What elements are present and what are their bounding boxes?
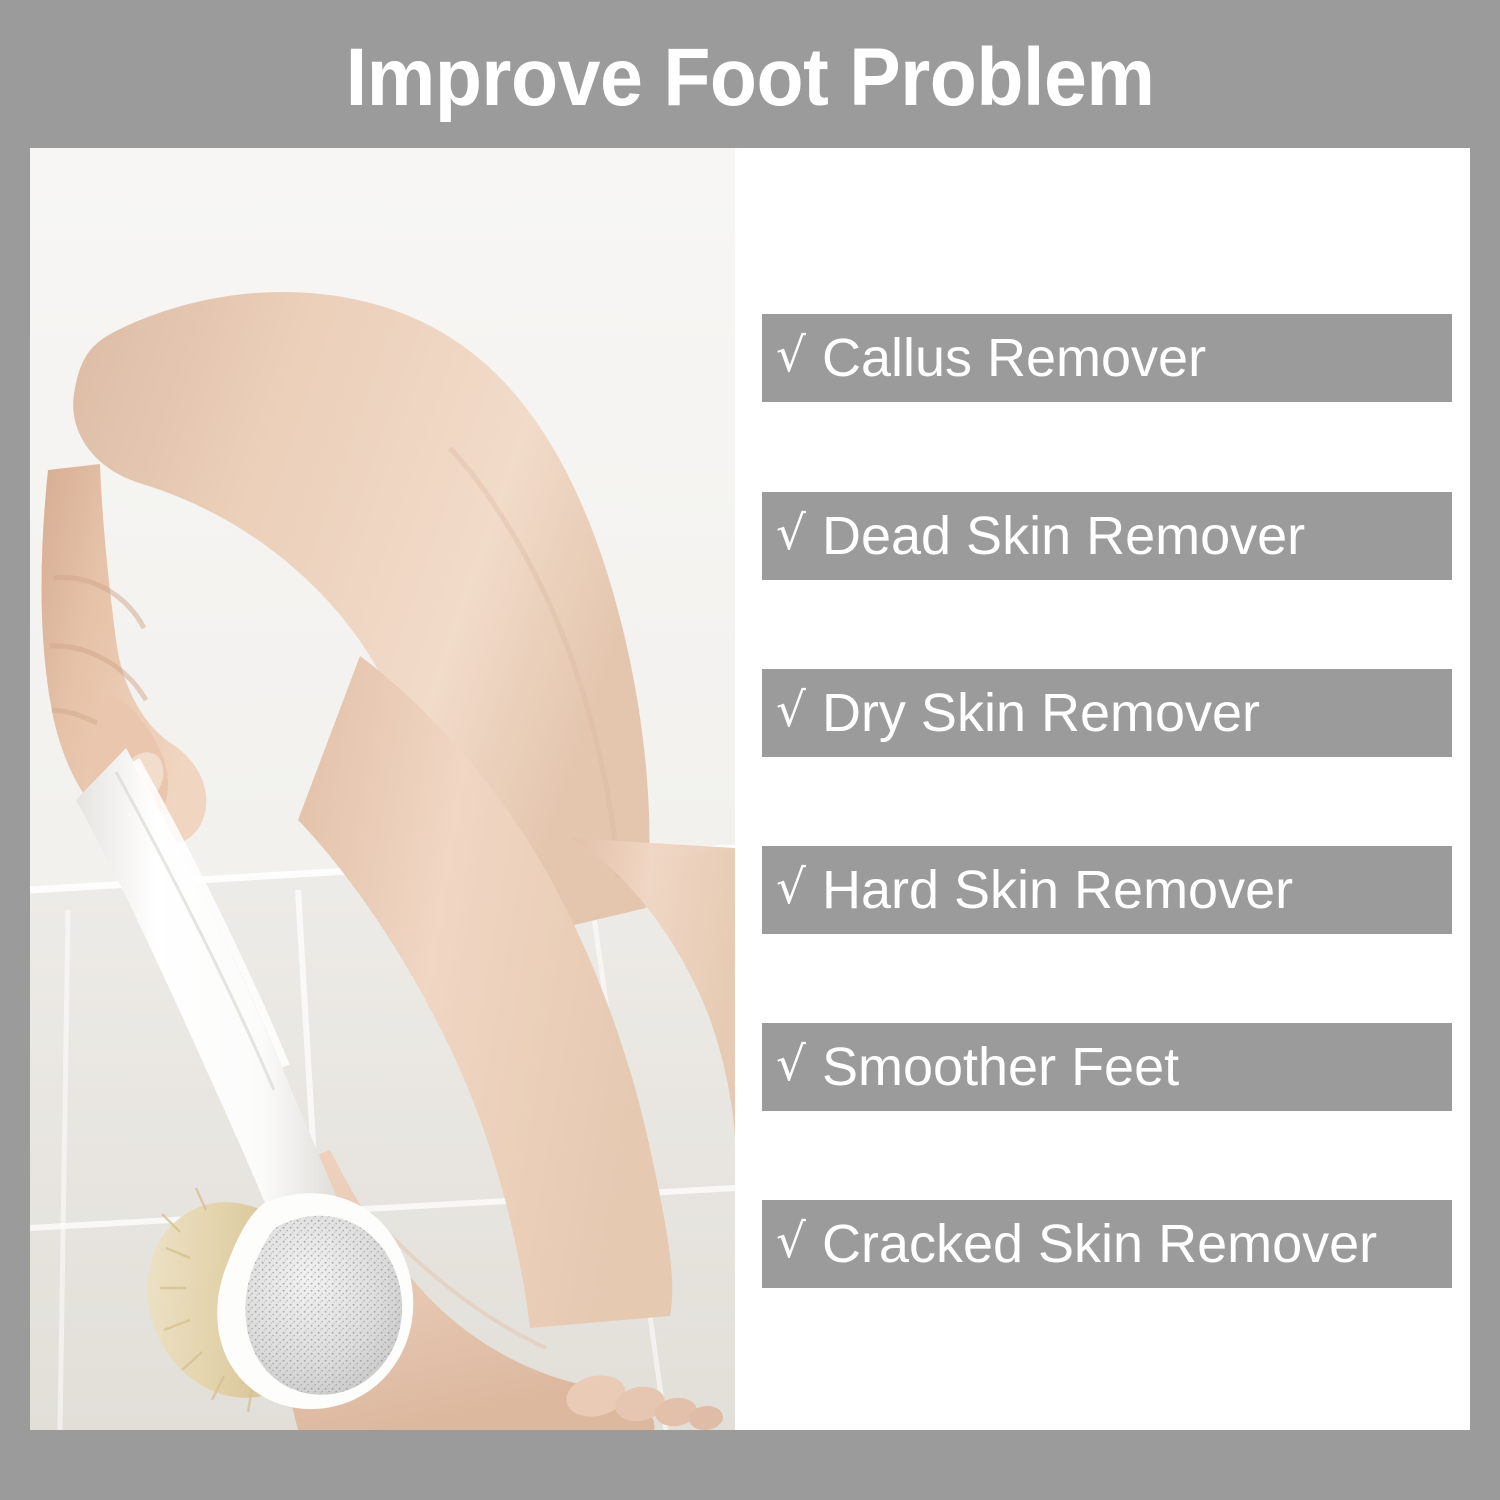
feature-label: Cracked Skin Remover <box>822 1217 1377 1271</box>
check-icon: √ <box>776 1041 806 1088</box>
feature-row: √ Dead Skin Remover <box>762 492 1452 580</box>
content-card: √ Callus Remover √ Dead Skin Remover √ D… <box>30 148 1470 1430</box>
feature-row: √ Smoother Feet <box>762 1023 1452 1111</box>
check-icon: √ <box>776 510 806 557</box>
check-icon: √ <box>776 332 806 379</box>
feature-row: √ Hard Skin Remover <box>762 846 1452 934</box>
feature-list: √ Callus Remover √ Dead Skin Remover √ D… <box>735 148 1470 1430</box>
product-feature-poster: Improve Foot Problem <box>0 0 1500 1500</box>
feature-label: Smoother Feet <box>822 1040 1179 1094</box>
feature-row: √ Dry Skin Remover <box>762 669 1452 757</box>
feature-label: Dry Skin Remover <box>822 686 1260 740</box>
check-icon: √ <box>776 687 806 734</box>
feature-label: Hard Skin Remover <box>822 863 1293 917</box>
feature-label: Dead Skin Remover <box>822 509 1305 563</box>
check-icon: √ <box>776 864 806 911</box>
feature-row: √ Callus Remover <box>762 314 1452 402</box>
product-photo <box>30 148 735 1430</box>
feature-label: Callus Remover <box>822 331 1206 385</box>
feature-row: √ Cracked Skin Remover <box>762 1200 1452 1288</box>
page-title: Improve Foot Problem <box>346 37 1155 119</box>
check-icon: √ <box>776 1218 806 1265</box>
title-bar: Improve Foot Problem <box>0 0 1500 148</box>
product-photo-illustration <box>30 148 735 1430</box>
